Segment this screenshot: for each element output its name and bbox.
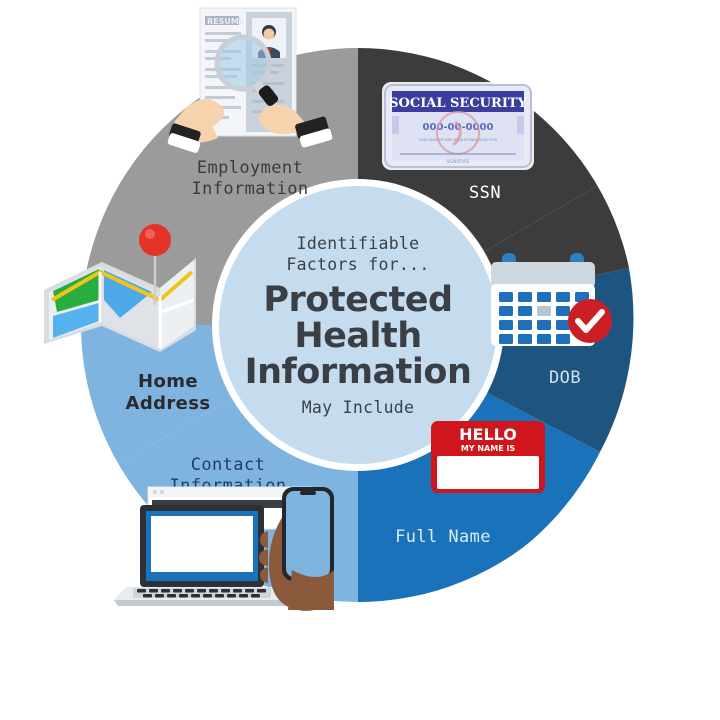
infographic-canvas: Identifiable Factors for... Protected He… (0, 0, 720, 720)
name-tag-subtitle: MY NAME IS (461, 444, 516, 453)
resume-heading: RESUME (207, 17, 244, 26)
laptop-smartphone-icon (114, 487, 334, 611)
ssn-card-signature-caption: SIGNATURE (447, 159, 470, 164)
ssn-card-heading: SOCIAL SECURITY (389, 96, 527, 111)
name-tag-hello: HELLO (459, 425, 517, 444)
calendar-check-icon (491, 253, 612, 346)
map-pin-head (139, 224, 171, 256)
resume-magnifier-icon: RESUME (167, 8, 333, 154)
icon-layer: RESUME (0, 0, 720, 720)
folded-map-pin-icon (44, 224, 196, 352)
magnifier-lens (217, 37, 269, 89)
social-security-card-icon: SOCIAL SECURITY 000-00-0000 THIS NUMBER … (382, 82, 534, 170)
hello-name-tag-icon: HELLO MY NAME IS (431, 421, 545, 493)
